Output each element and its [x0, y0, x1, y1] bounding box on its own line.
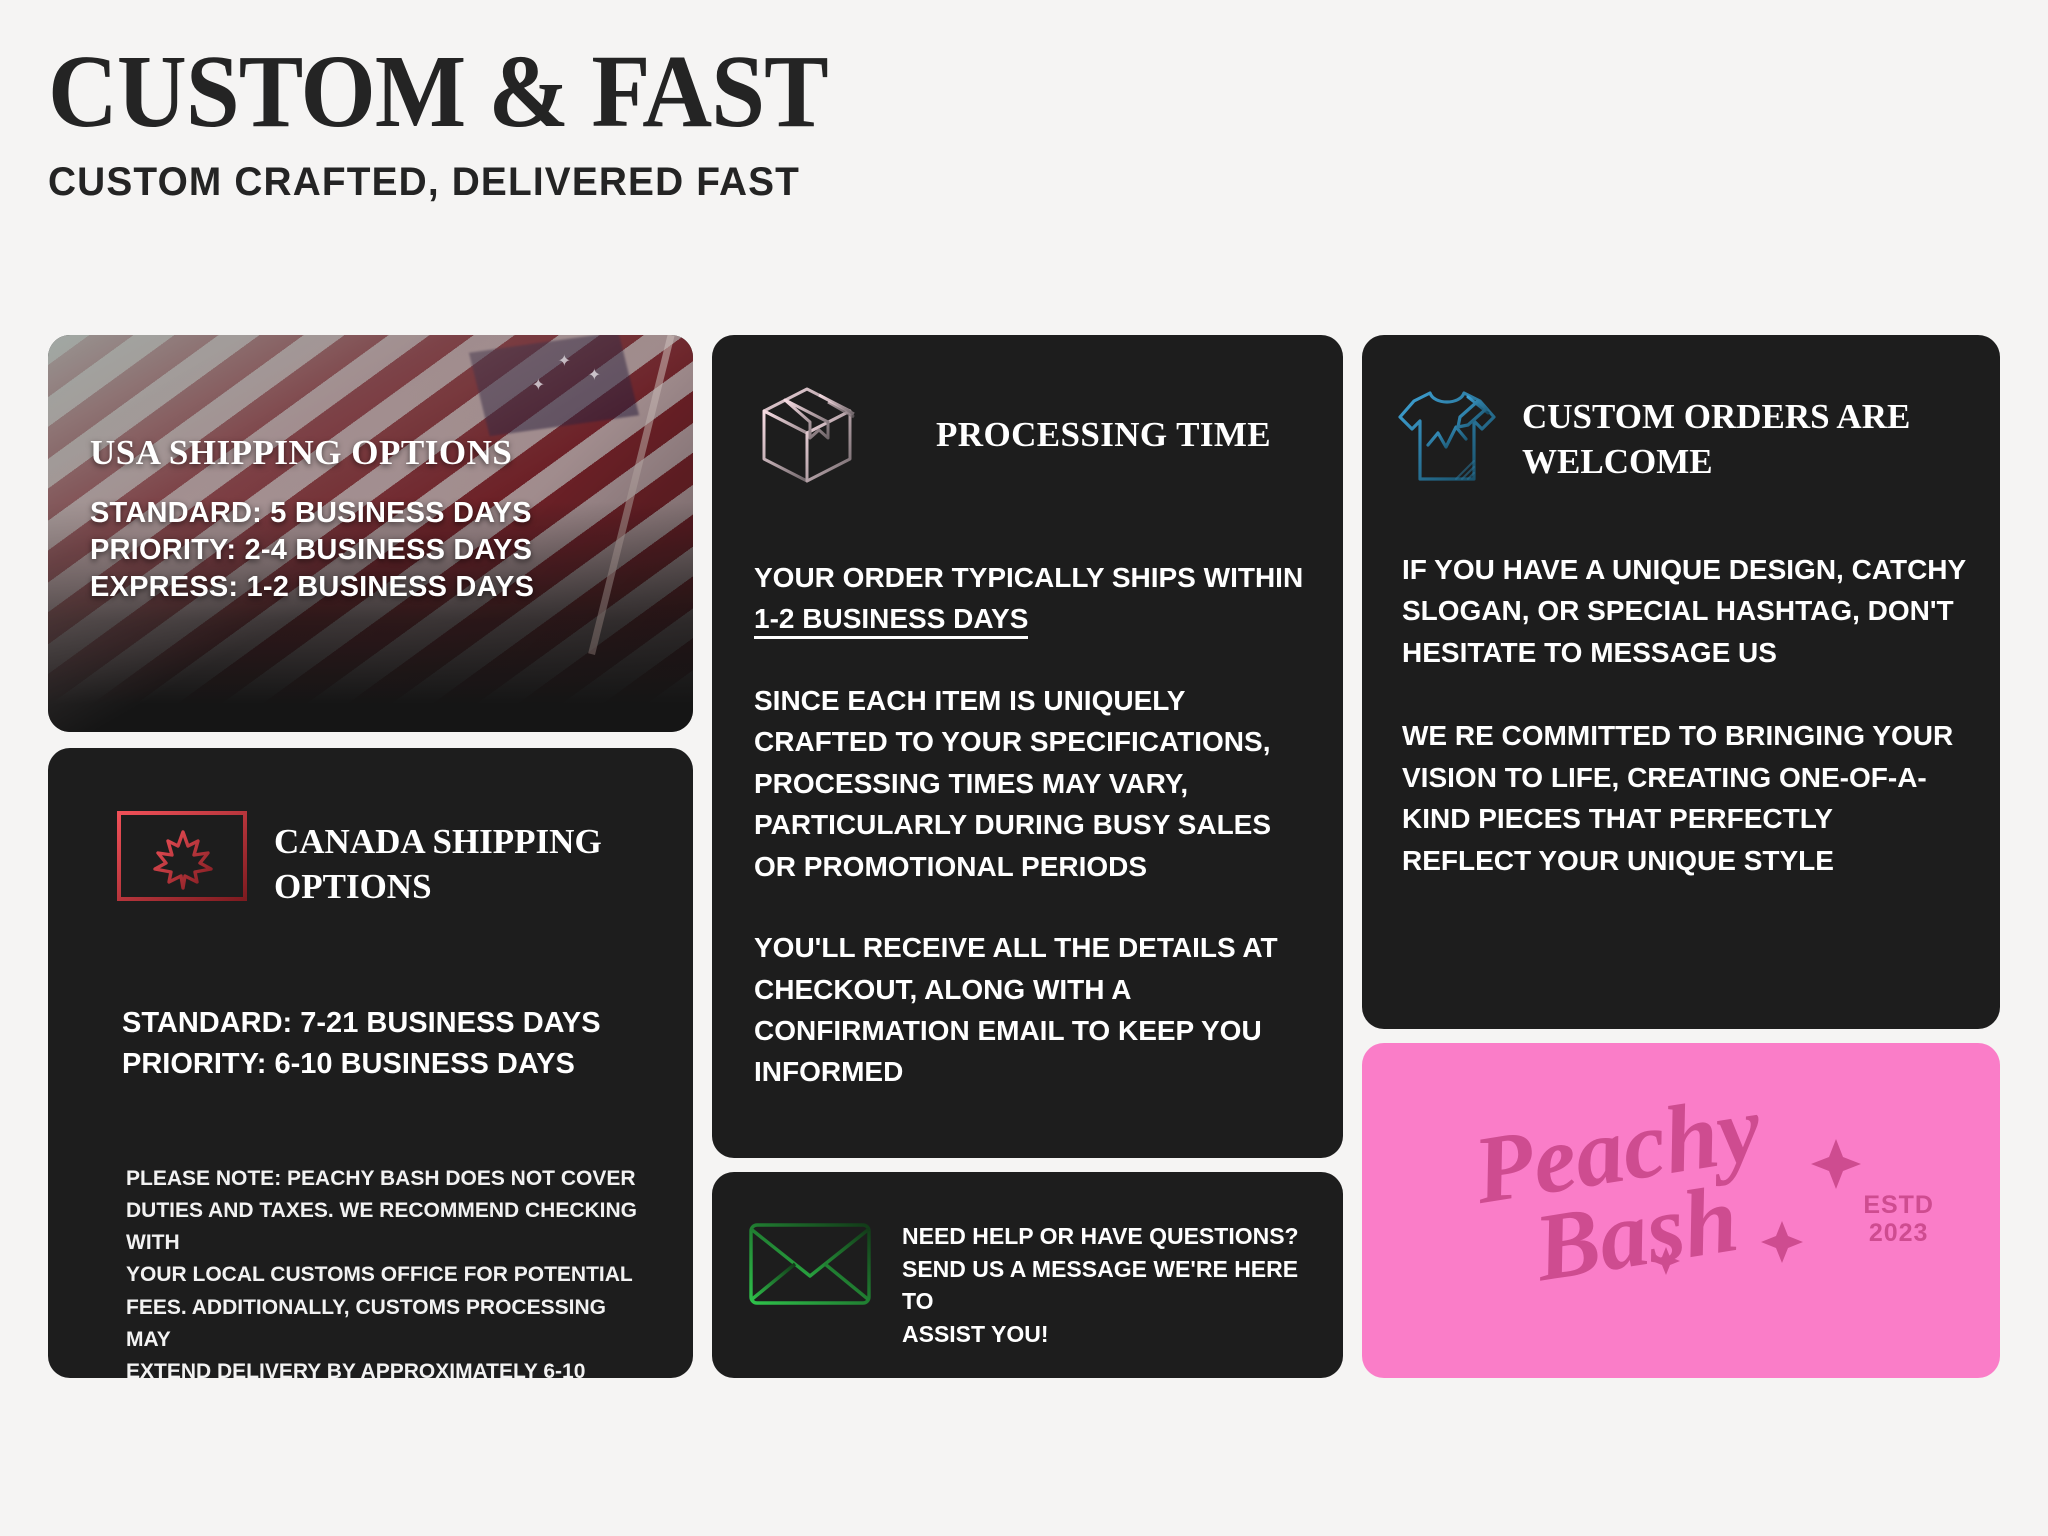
- flag-star-icon: ✦: [558, 351, 571, 371]
- custom-orders-heading: CUSTOM ORDERS ARE WELCOME: [1522, 383, 1974, 485]
- need-help-card[interactable]: NEED HELP OR HAVE QUESTIONS? SEND US A M…: [712, 1172, 1343, 1378]
- usa-shipping-card: ✦ ✦ ✦ USA SHIPPING OPTIONS STANDARD: 5 B…: [48, 335, 693, 732]
- note-line: YOUR LOCAL CUSTOMS OFFICE FOR POTENTIAL: [126, 1259, 647, 1291]
- processing-time-card: PROCESSING TIME YOUR ORDER TYPICALLY SHI…: [712, 335, 1343, 1158]
- processing-paragraph-3: YOU'LL RECEIVE ALL THE DETAILS AT CHECKO…: [754, 927, 1313, 1093]
- page-header: CUSTOM & FAST CUSTOM CRAFTED, DELIVERED …: [48, 40, 886, 205]
- tshirt-design-icon: [1394, 383, 1500, 487]
- shipping-info-infographic: CUSTOM & FAST CUSTOM CRAFTED, DELIVERED …: [0, 0, 2048, 1536]
- help-line: SEND US A MESSAGE WE'RE HERE TO: [902, 1253, 1309, 1318]
- help-line: NEED HELP OR HAVE QUESTIONS?: [902, 1220, 1309, 1253]
- list-item: STANDARD: 5 BUSINESS DAYS: [90, 495, 663, 532]
- list-item: PRIORITY: 2-4 BUSINESS DAYS: [90, 532, 663, 569]
- canada-flag-icon: [116, 810, 248, 902]
- need-help-text: NEED HELP OR HAVE QUESTIONS? SEND US A M…: [902, 1220, 1309, 1351]
- list-item: EXPRESS: 1-2 BUSINESS DAYS: [90, 569, 663, 606]
- note-line: DUTIES AND TAXES. WE RECOMMEND CHECKING …: [126, 1195, 647, 1259]
- page-title: CUSTOM & FAST: [48, 40, 828, 144]
- canada-shipping-options-list: STANDARD: 7-21 BUSINESS DAYS PRIORITY: 6…: [122, 1003, 601, 1084]
- processing-ship-window: 1-2 BUSINESS DAYS: [754, 603, 1028, 639]
- envelope-icon: [748, 1220, 872, 1308]
- estd-year: 2023: [1863, 1219, 1934, 1247]
- brand-logo-card: Peachy Bash ESTD 2023: [1362, 1043, 2000, 1378]
- flag-star-icon: ✦: [532, 375, 545, 395]
- canada-shipping-heading: CANADA SHIPPING OPTIONS: [274, 810, 634, 910]
- peachy-bash-logo: Peachy Bash: [1470, 1079, 1900, 1294]
- estd-label: ESTD: [1863, 1191, 1934, 1219]
- custom-orders-paragraph-1: IF YOU HAVE A UNIQUE DESIGN, CATCHY SLOG…: [1402, 549, 1966, 673]
- note-line: PLEASE NOTE: PEACHY BASH DOES NOT COVER: [126, 1163, 647, 1195]
- custom-orders-card: CUSTOM ORDERS ARE WELCOME IF YOU HAVE A …: [1362, 335, 2000, 1029]
- page-subtitle: CUSTOM CRAFTED, DELIVERED FAST: [48, 160, 861, 205]
- note-line: FEES. ADDITIONALLY, CUSTOMS PROCESSING M…: [126, 1292, 647, 1356]
- custom-orders-paragraph-2: WE RE COMMITTED TO BRINGING YOUR VISION …: [1402, 715, 1966, 881]
- processing-paragraph-1: YOUR ORDER TYPICALLY SHIPS WITHIN 1-2 BU…: [754, 557, 1313, 640]
- help-line: ASSIST YOU!: [902, 1318, 1309, 1351]
- flag-star-icon: ✦: [588, 365, 601, 385]
- usa-shipping-options-list: STANDARD: 5 BUSINESS DAYS PRIORITY: 2-4 …: [90, 495, 663, 606]
- list-item: PRIORITY: 6-10 BUSINESS DAYS: [122, 1044, 601, 1085]
- flag-canton: [469, 335, 639, 436]
- package-box-icon: [758, 383, 856, 487]
- note-line: EXTEND DELIVERY BY APPROXIMATELY 6-10 DA…: [126, 1356, 647, 1378]
- processing-paragraph-2: SINCE EACH ITEM IS UNIQUELY CRAFTED TO Y…: [754, 680, 1313, 887]
- canada-customs-note: PLEASE NOTE: PEACHY BASH DOES NOT COVER …: [126, 1163, 647, 1378]
- processing-lead-text: YOUR ORDER TYPICALLY SHIPS WITHIN: [754, 562, 1303, 593]
- estd-badge: ESTD 2023: [1863, 1191, 1934, 1247]
- usa-shipping-heading: USA SHIPPING OPTIONS: [90, 433, 663, 473]
- list-item: STANDARD: 7-21 BUSINESS DAYS: [122, 1003, 601, 1044]
- processing-time-heading: PROCESSING TIME: [936, 415, 1271, 455]
- canada-shipping-card: CANADA SHIPPING OPTIONS STANDARD: 7-21 B…: [48, 748, 693, 1378]
